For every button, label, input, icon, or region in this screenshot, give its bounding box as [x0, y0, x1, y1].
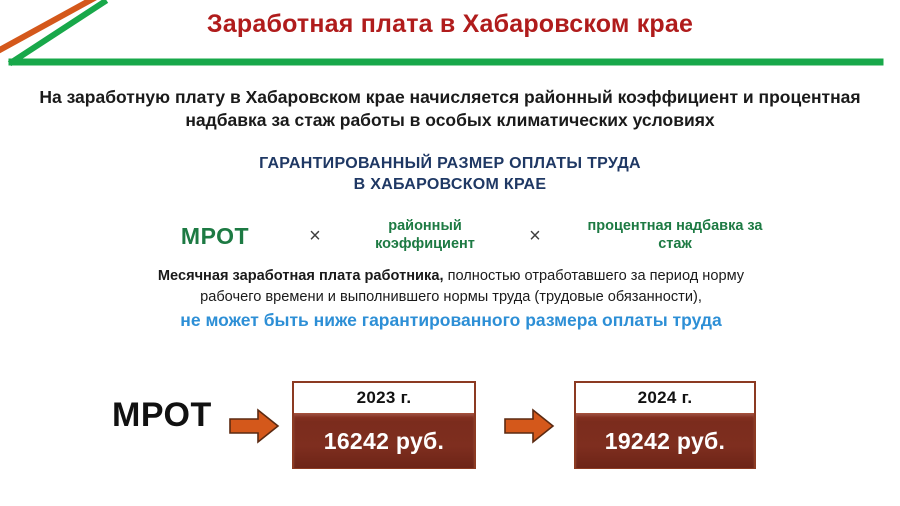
body-paragraph-highlight: не может быть ниже гарантированного разм… [140, 310, 762, 332]
arrow-right-icon-1 [228, 408, 280, 444]
page-title: Заработная плата в Хабаровском крае [0, 10, 900, 39]
year-box-2023: 2023 г. 16242 руб. [292, 381, 476, 469]
formula-term-seniority-bonus: процентная надбавка за стаж [580, 218, 770, 253]
year-label-2023: 2023 г. [294, 383, 474, 413]
year-amount-2023: 16242 руб. [294, 413, 474, 468]
intro-paragraph: На заработную плату в Хабаровском крае н… [22, 86, 878, 132]
body-paragraph: Месячная заработная плата работника, пол… [140, 266, 762, 332]
multiply-icon-1: × [302, 225, 328, 248]
mrot-label: МРОТ [112, 396, 212, 435]
arrow-right-icon-2 [503, 408, 555, 444]
year-label-2024: 2024 г. [576, 383, 754, 413]
section-heading-line-1: ГАРАНТИРОВАННЫЙ РАЗМЕР ОПЛАТЫ ТРУДА [259, 155, 641, 172]
formula-term-regional-coefficient: районный коэффициент [360, 218, 490, 253]
section-heading: ГАРАНТИРОВАННЫЙ РАЗМЕР ОПЛАТЫ ТРУДА В ХА… [120, 154, 780, 196]
intro-line-1: На заработную плату в Хабаровском крае н… [39, 87, 753, 107]
section-heading-line-2: В ХАБАРОВСКОМ КРАЕ [120, 175, 780, 196]
multiply-icon-2: × [522, 225, 548, 248]
year-box-2024: 2024 г. 19242 руб. [574, 381, 756, 469]
year-amount-2024: 19242 руб. [576, 413, 754, 468]
formula-row: МРОТ × районный коэффициент × процентная… [160, 210, 770, 262]
body-paragraph-bold: Месячная заработная плата работника, [158, 268, 444, 284]
formula-term-mrot: МРОТ [160, 222, 270, 250]
